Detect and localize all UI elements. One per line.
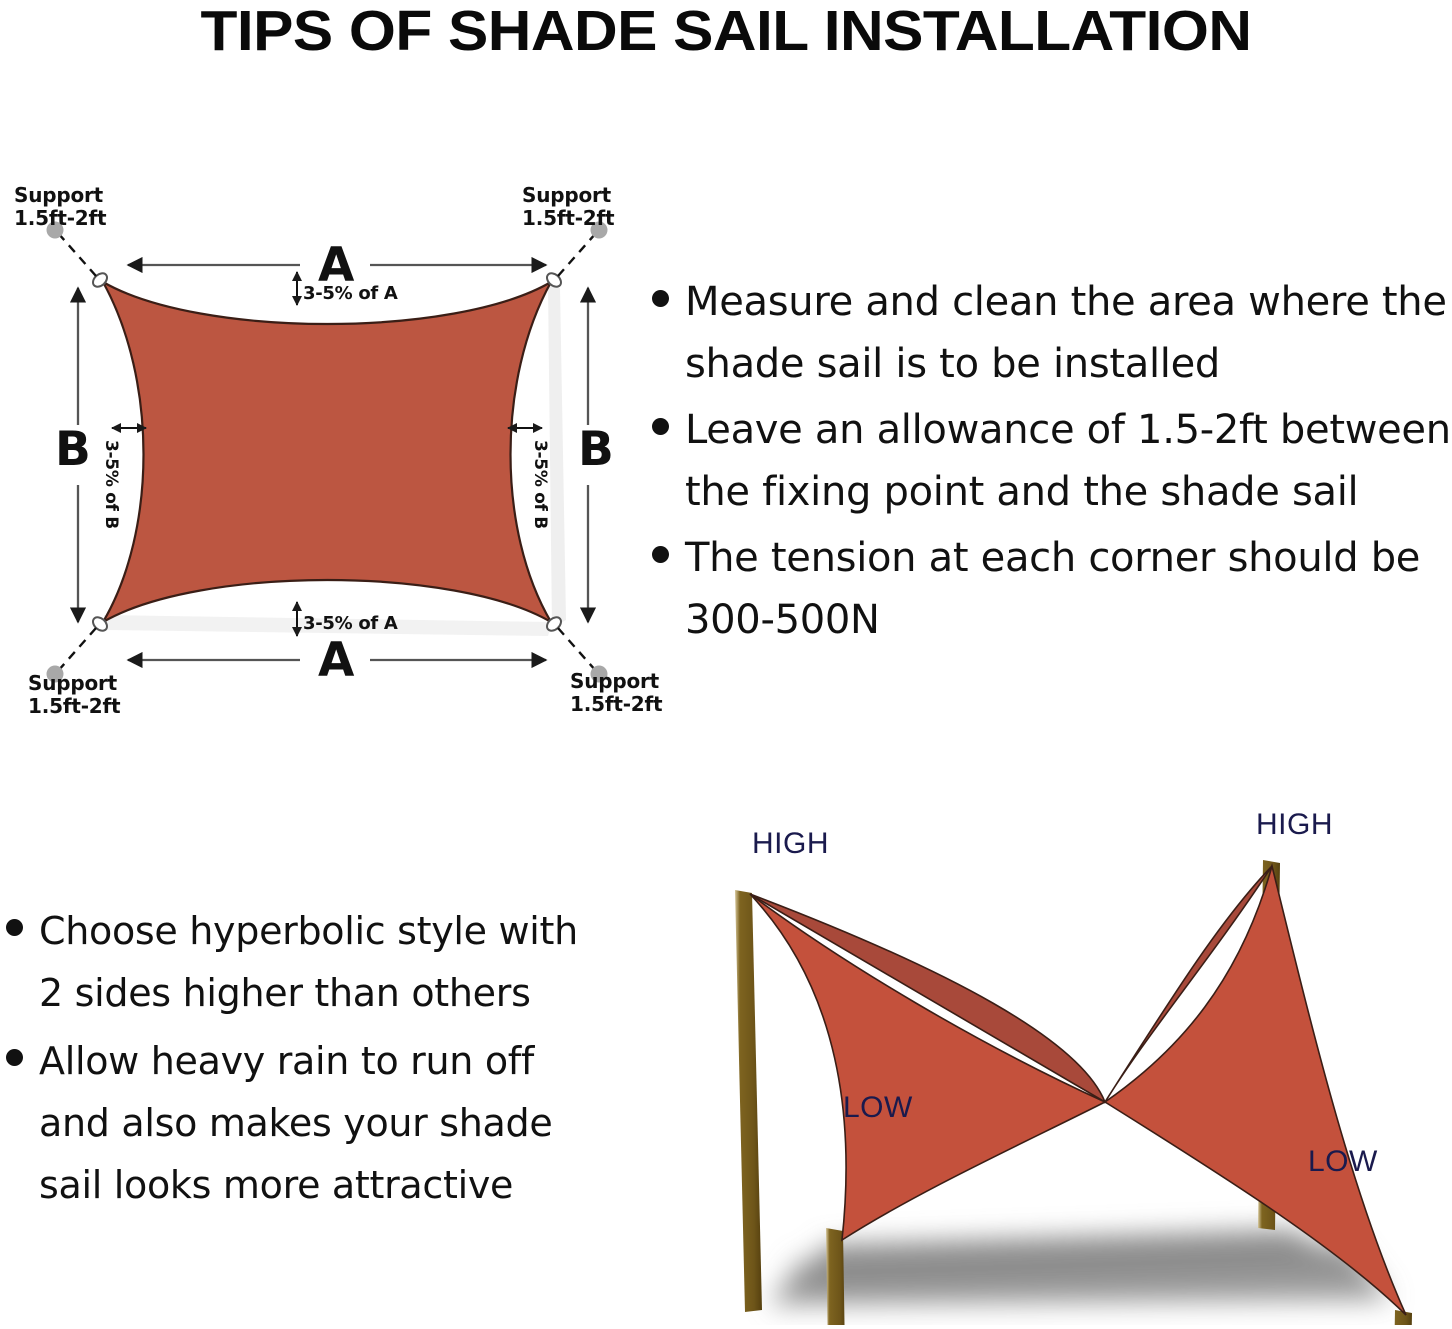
ground-shadow [770, 1230, 1390, 1305]
post-front-right [1390, 1310, 1412, 1325]
support-label-bottom-right: Support 1.5ft-2ft [570, 670, 662, 716]
post-label-low-left: LOW [843, 1091, 913, 1125]
post-label-high-right: HIGH [1256, 808, 1333, 842]
post-front-left [826, 1228, 846, 1325]
post-label-low-right: LOW [1308, 1145, 1378, 1179]
list-item: Leave an allowance of 1.5-2ft between th… [652, 399, 1452, 523]
tips-list-installation: Measure and clean the area where the sha… [652, 271, 1452, 655]
list-item-text: Choose hyperbolic style with 2 sides hig… [39, 900, 578, 1024]
post-label-high-left: HIGH [752, 827, 829, 861]
dimension-label-a-top: A [318, 242, 354, 289]
infographic-page: TIPS OF SHADE SAIL INSTALLATION [0, 0, 1452, 1325]
list-item: Measure and clean the area where the sha… [652, 271, 1452, 395]
support-label-top-left: Support 1.5ft-2ft [14, 184, 106, 230]
reference-band-right [548, 285, 566, 628]
curve-label-b-left: 3-5% of B [101, 440, 121, 529]
list-item-text: Measure and clean the area where the sha… [685, 271, 1447, 395]
dimension-label-a-bottom: A [318, 637, 354, 684]
list-item: The tension at each corner should be 300… [652, 527, 1452, 651]
support-label-top-right: Support 1.5ft-2ft [522, 184, 614, 230]
bullet-icon [6, 919, 23, 936]
bullet-icon [6, 1049, 23, 1066]
dimension-label-b-right: B [578, 426, 614, 473]
dimension-label-b-left: B [55, 426, 91, 473]
curve-label-b-right: 3-5% of B [530, 440, 550, 529]
post-back-left [735, 890, 762, 1312]
bullet-icon [652, 290, 669, 307]
hyperbolic-sail-diagram [650, 790, 1452, 1325]
list-item: Allow heavy rain to run off and also mak… [6, 1030, 636, 1216]
list-item-text: Allow heavy rain to run off and also mak… [39, 1030, 552, 1216]
bullet-icon [652, 546, 669, 563]
curve-label-a-bottom: 3-5% of A [303, 613, 398, 634]
list-item-text: Leave an allowance of 1.5-2ft between th… [685, 399, 1451, 523]
support-label-bottom-left: Support 1.5ft-2ft [28, 672, 120, 718]
tips-list-hyperbolic: Choose hyperbolic style with 2 sides hig… [6, 900, 636, 1222]
bullet-icon [652, 418, 669, 435]
list-item: Choose hyperbolic style with 2 sides hig… [6, 900, 636, 1024]
shade-sail-shape [103, 282, 551, 622]
page-title: TIPS OF SHADE SAIL INSTALLATION [0, 0, 1452, 64]
curve-label-a-top: 3-5% of A [303, 283, 398, 304]
list-item-text: The tension at each corner should be 300… [685, 527, 1420, 651]
